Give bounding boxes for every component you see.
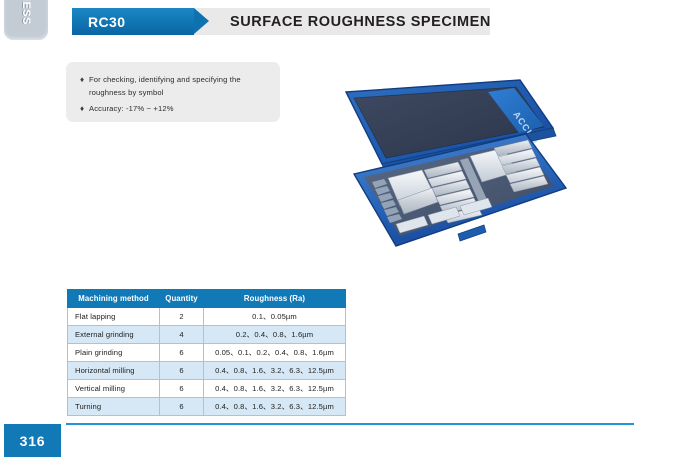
- footer-divider: [66, 423, 634, 425]
- table-row: External grinding 4 0.2、0.4、0.8、1.6µm: [68, 326, 346, 344]
- table-row: Turning 6 0.4、0.8、1.6、3.2、6.3、12.5µm: [68, 398, 346, 416]
- feature-item: ♦ Accuracy: -17% ~ +12%: [80, 103, 270, 116]
- column-header-roughness: Roughness (Ra): [204, 290, 346, 308]
- page-header: RC30 SURFACE ROUGHNESS SPECIMEN: [72, 8, 490, 35]
- side-tab-label: NESS: [20, 0, 32, 25]
- specification-table: Machining method Quantity Roughness (Ra)…: [67, 289, 346, 416]
- table-row: Vertical milling 6 0.4、0.8、1.6、3.2、6.3、1…: [68, 380, 346, 398]
- cell-method: Turning: [68, 398, 160, 416]
- cell-roughness: 0.05、0.1、0.2、0.4、0.8、1.6µm: [204, 344, 346, 362]
- table-header-row: Machining method Quantity Roughness (Ra): [68, 290, 346, 308]
- cell-quantity: 6: [160, 362, 204, 380]
- diamond-bullet-icon: ♦: [80, 74, 89, 86]
- cell-quantity: 6: [160, 398, 204, 416]
- page-title: SURFACE ROUGHNESS SPECIMEN: [230, 14, 491, 30]
- cell-method: Flat lapping: [68, 308, 160, 326]
- cell-method: Vertical milling: [68, 380, 160, 398]
- table-row: Horizontal milling 6 0.4、0.8、1.6、3.2、6.3…: [68, 362, 346, 380]
- cell-quantity: 2: [160, 308, 204, 326]
- feature-text: For checking, identifying and specifying…: [89, 74, 270, 99]
- cell-method: Plain grinding: [68, 344, 160, 362]
- page-number-box: 316: [4, 424, 61, 457]
- side-tab: NESS: [4, 0, 48, 40]
- product-code-label: RC30: [88, 14, 125, 30]
- cell-roughness: 0.4、0.8、1.6、3.2、6.3、12.5µm: [204, 398, 346, 416]
- cell-quantity: 4: [160, 326, 204, 344]
- table-row: Plain grinding 6 0.05、0.1、0.2、0.4、0.8、1.…: [68, 344, 346, 362]
- page-number: 316: [20, 433, 46, 449]
- feature-item: ♦ For checking, identifying and specifyi…: [80, 74, 270, 99]
- product-image: ACCUD: [338, 78, 570, 262]
- cell-method: External grinding: [68, 326, 160, 344]
- cell-roughness: 0.4、0.8、1.6、3.2、6.3、12.5µm: [204, 380, 346, 398]
- feature-text: Accuracy: -17% ~ +12%: [89, 103, 174, 116]
- product-code-badge: RC30: [72, 8, 194, 35]
- column-header-quantity: Quantity: [160, 290, 204, 308]
- table-row: Flat lapping 2 0.1、0.05µm: [68, 308, 346, 326]
- cell-roughness: 0.1、0.05µm: [204, 308, 346, 326]
- cell-method: Horizontal milling: [68, 362, 160, 380]
- cell-roughness: 0.4、0.8、1.6、3.2、6.3、12.5µm: [204, 362, 346, 380]
- cell-quantity: 6: [160, 344, 204, 362]
- column-header-machining-method: Machining method: [68, 290, 160, 308]
- cell-quantity: 6: [160, 380, 204, 398]
- feature-box: ♦ For checking, identifying and specifyi…: [66, 62, 280, 122]
- cell-roughness: 0.2、0.4、0.8、1.6µm: [204, 326, 346, 344]
- diamond-bullet-icon: ♦: [80, 103, 89, 115]
